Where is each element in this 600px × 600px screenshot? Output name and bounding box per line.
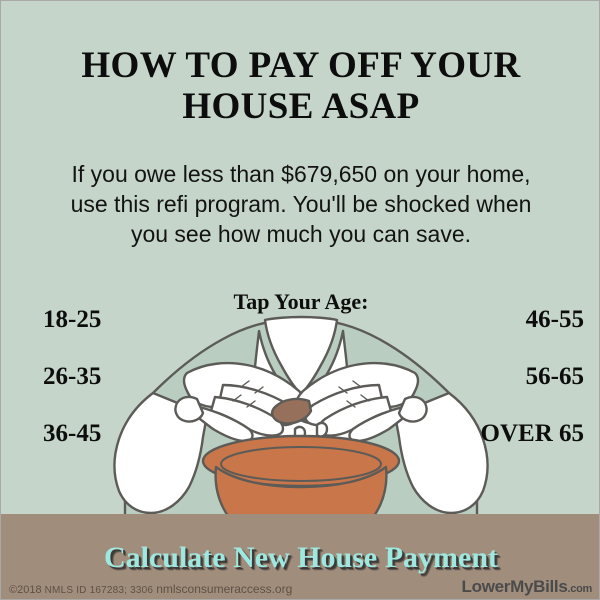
crumb-right xyxy=(272,399,311,423)
calculate-new-house-payment-button[interactable]: Calculate New House Payment xyxy=(1,541,600,575)
advertisement-banner: HOW TO PAY OFF YOUR HOUSE ASAP If you ow… xyxy=(0,0,600,600)
page-title: HOW TO PAY OFF YOUR HOUSE ASAP xyxy=(1,45,600,127)
age-option-26-35[interactable]: 26-35 xyxy=(43,363,253,420)
age-option-46-55[interactable]: 46-55 xyxy=(349,306,584,363)
age-option-36-45[interactable]: 36-45 xyxy=(43,420,253,477)
shirt-body xyxy=(245,331,357,517)
brand-tld: .com xyxy=(568,583,592,595)
headline-line-1: HOW TO PAY OFF YOUR xyxy=(1,45,600,86)
subcopy-text: If you owe less than $679,650 on your ho… xyxy=(61,159,541,249)
headline-line-2: HOUSE ASAP xyxy=(1,86,600,127)
nmls-consumer-access-link[interactable]: nmlsconsumeraccess.org xyxy=(156,582,292,596)
legal-disclaimer: ©2018 NMLS ID 167283; 3306 nmlsconsumera… xyxy=(9,582,292,596)
crumb-left xyxy=(291,399,330,423)
copyright-text: ©2018 xyxy=(9,584,42,596)
crumb-falling-left xyxy=(317,423,327,437)
brand-logo[interactable]: LowerMyBills.com xyxy=(462,577,592,597)
crumb-falling-right xyxy=(295,427,305,441)
brand-name: LowerMyBills xyxy=(462,577,568,596)
age-option-18-25[interactable]: 18-25 xyxy=(43,306,253,363)
age-option-over-65[interactable]: OVER 65 xyxy=(349,420,584,477)
age-options-right-column: 46-55 56-65 OVER 65 xyxy=(349,306,584,477)
age-option-56-65[interactable]: 56-65 xyxy=(349,363,584,420)
shirt-v-neck xyxy=(265,317,337,394)
nmls-id-text: NMLS ID 167283; 3306 xyxy=(45,585,154,596)
age-options-left-column: 18-25 26-35 36-45 xyxy=(43,306,253,477)
